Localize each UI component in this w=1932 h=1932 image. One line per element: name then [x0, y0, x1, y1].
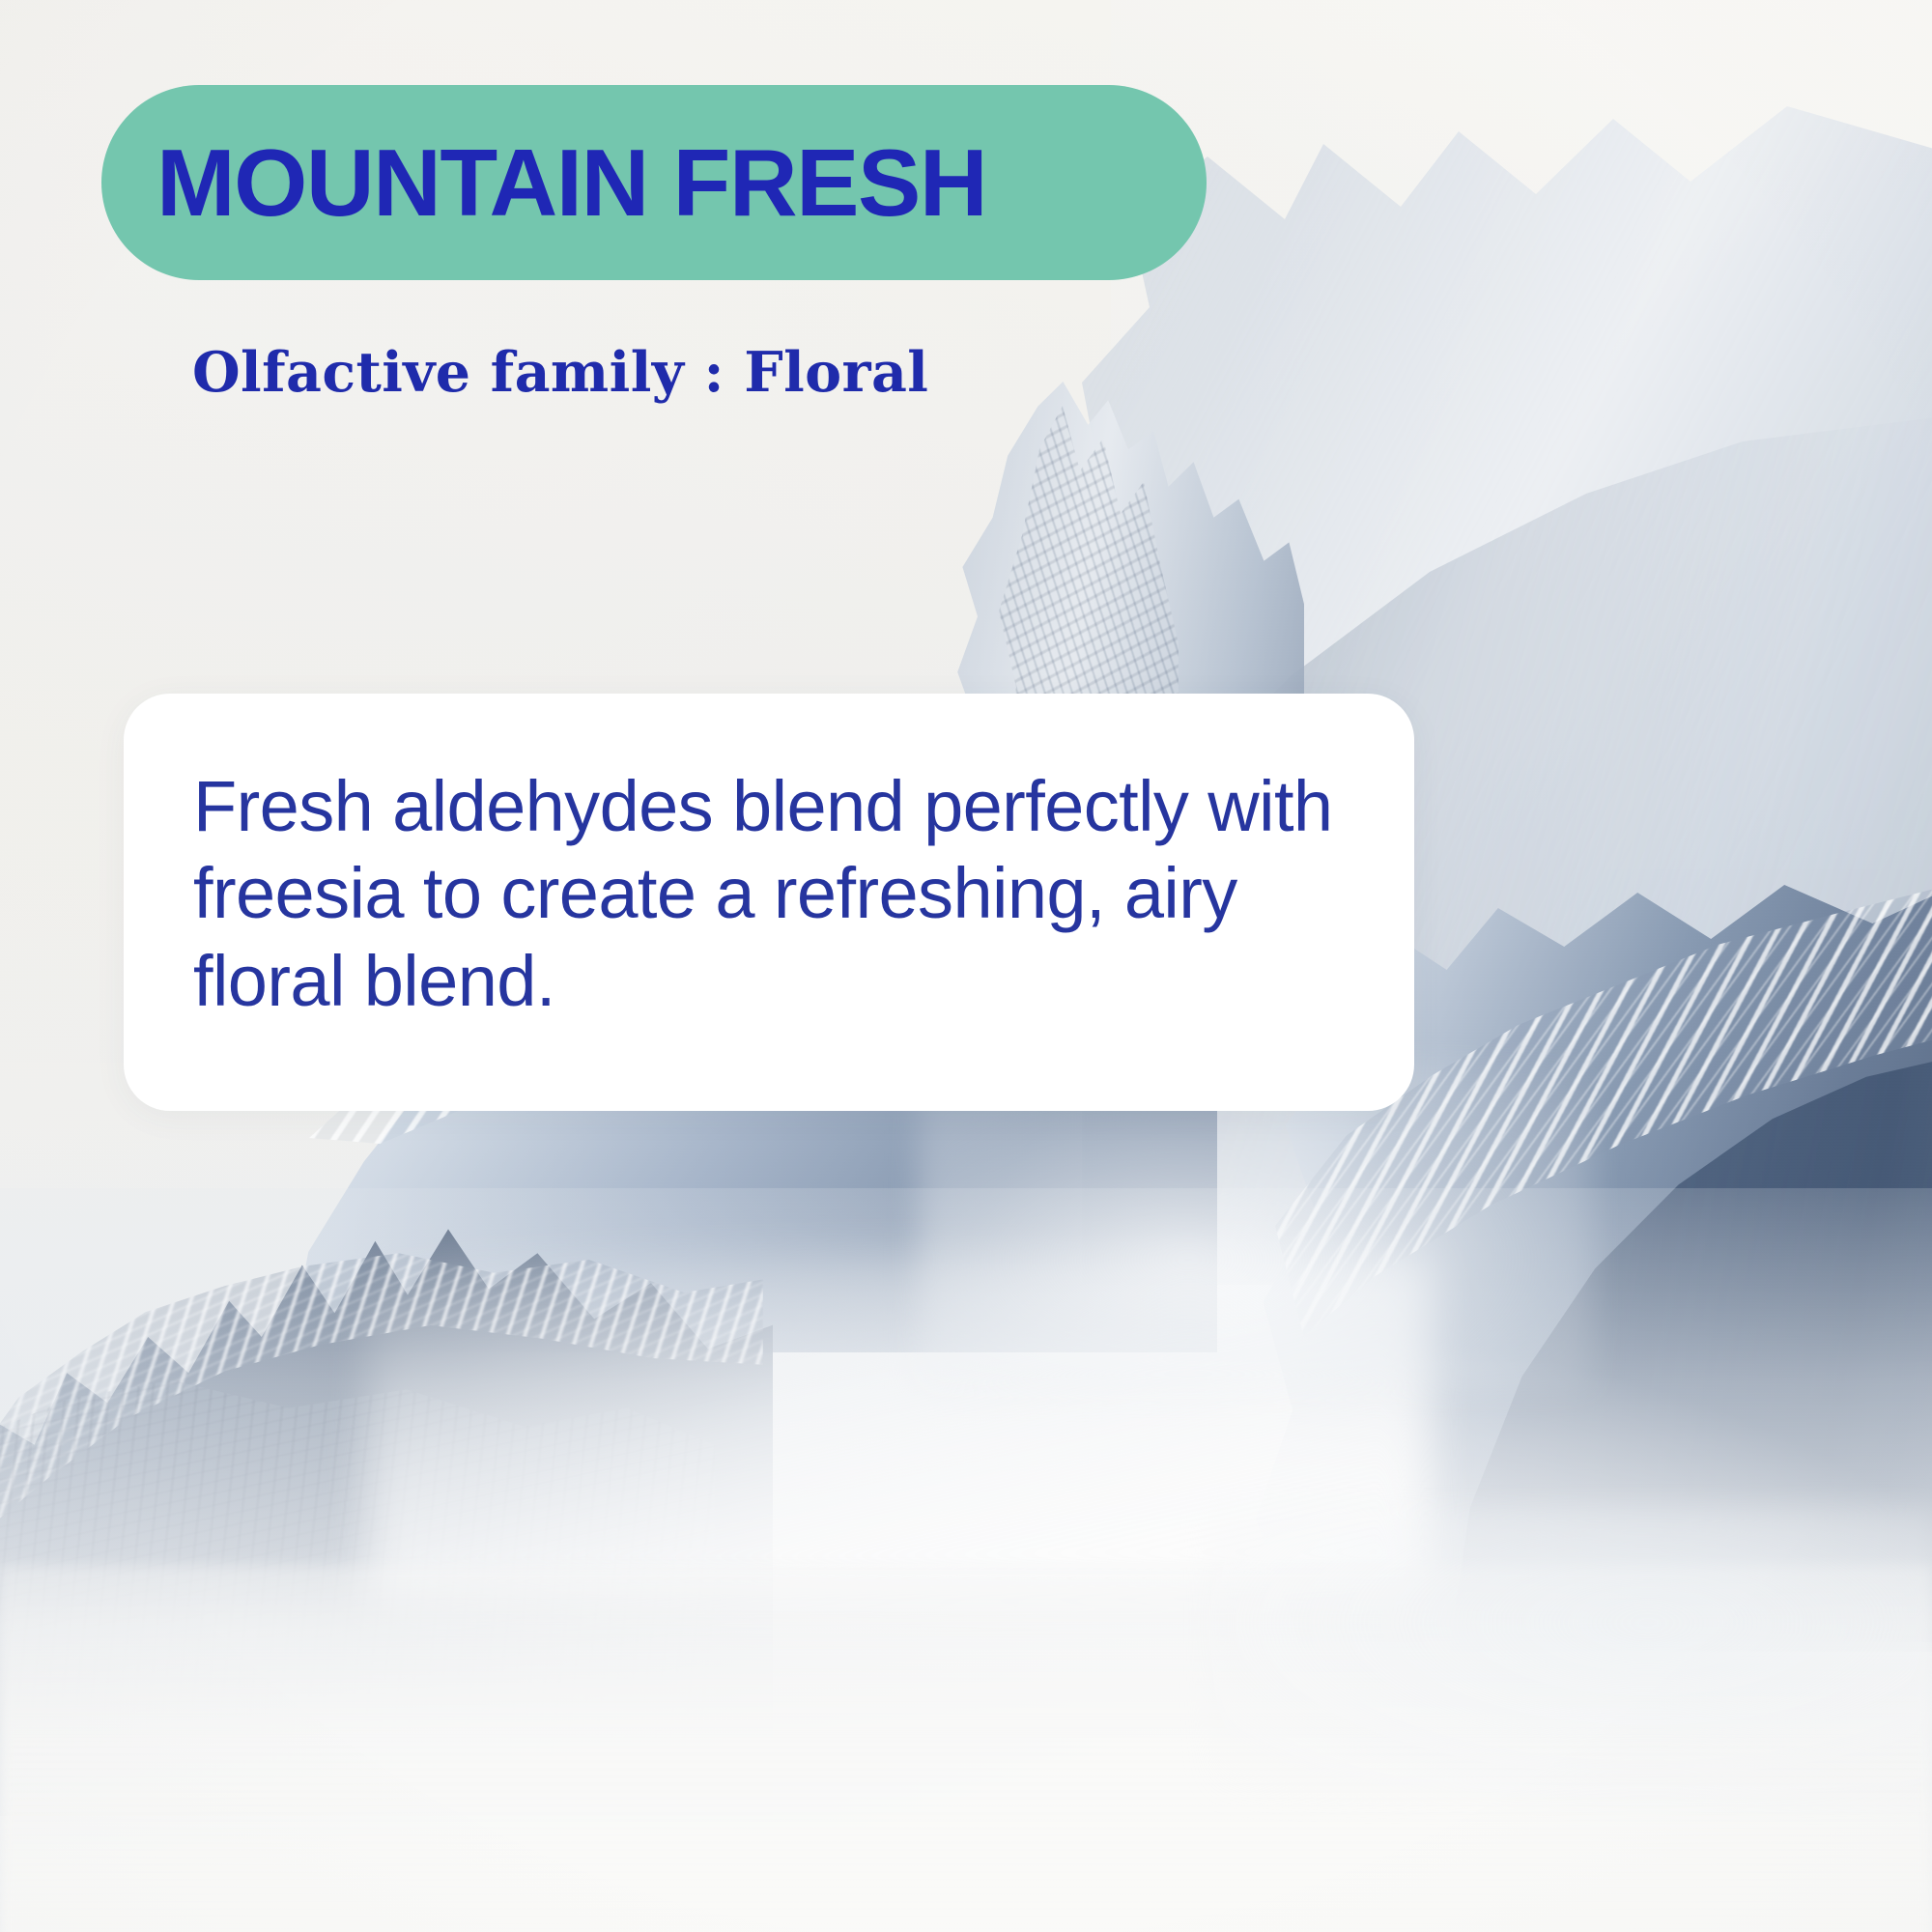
description-card: Fresh aldehydes blend perfectly with fre…: [124, 694, 1414, 1111]
content-overlay: MOUNTAIN FRESH Olfactive family : Floral…: [0, 0, 1932, 1932]
story-card-canvas: MOUNTAIN FRESH Olfactive family : Floral…: [0, 0, 1932, 1932]
olfactive-family-label: Olfactive family : Floral: [192, 340, 928, 405]
page-title: MOUNTAIN FRESH: [156, 135, 986, 230]
description-text: Fresh aldehydes blend perfectly with fre…: [193, 763, 1352, 1025]
title-badge: MOUNTAIN FRESH: [101, 85, 1207, 280]
